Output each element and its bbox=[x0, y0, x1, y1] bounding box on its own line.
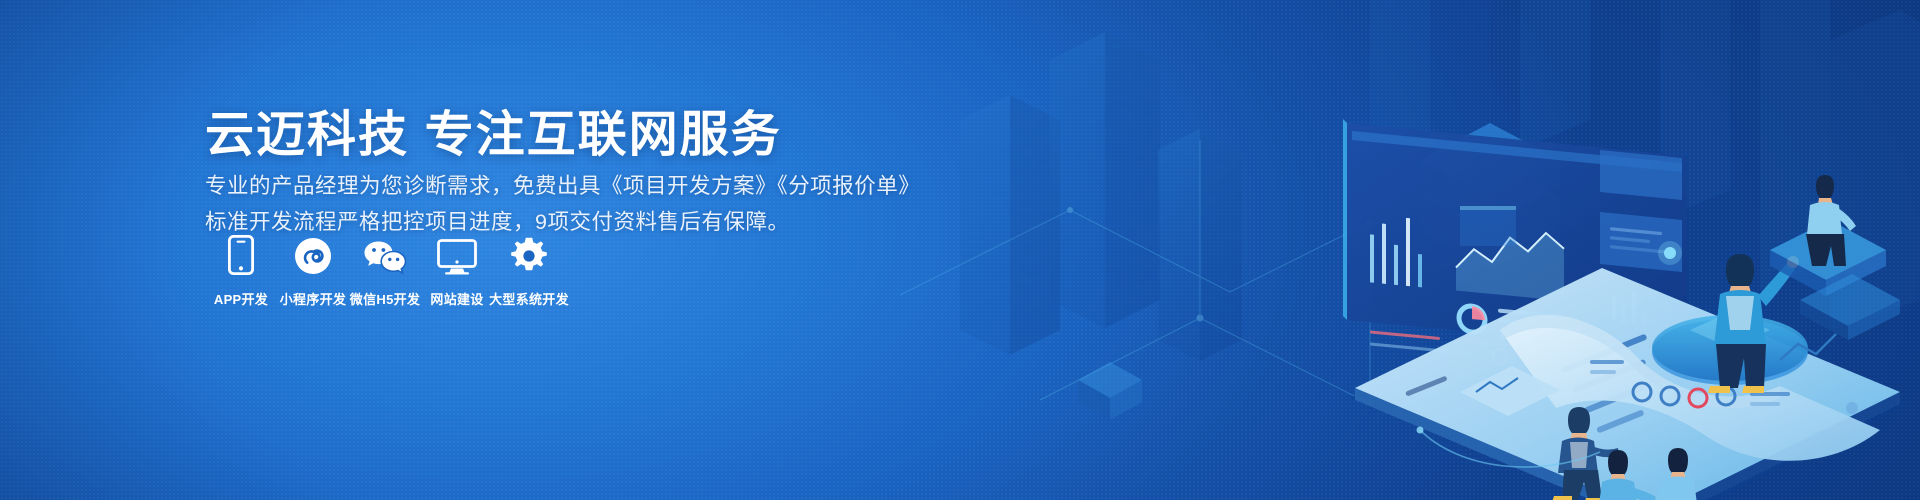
isometric-data-dashboard-illustration bbox=[900, 0, 1920, 500]
service-icon-row: APP开发 小程序开发 bbox=[205, 233, 565, 308]
hero-banner: 云迈科技 专注互联网服务 专业的产品经理为您诊断需求，免费出具《项目开发方案》《… bbox=[0, 0, 1920, 500]
service-item-website[interactable]: 网站建设 bbox=[421, 233, 493, 308]
service-label-app: APP开发 bbox=[214, 289, 268, 308]
page-title: 云迈科技 专注互联网服务 bbox=[205, 109, 782, 163]
service-label-system: 大型系统开发 bbox=[489, 289, 569, 308]
service-item-miniprogram[interactable]: 小程序开发 bbox=[277, 233, 349, 308]
mobile-phone-icon bbox=[228, 233, 254, 275]
wechat-icon bbox=[363, 233, 407, 275]
service-label-miniprogram: 小程序开发 bbox=[280, 289, 347, 308]
service-label-wechat: 微信H5开发 bbox=[350, 289, 420, 308]
hologram-panel bbox=[1460, 206, 1516, 246]
service-item-system[interactable]: 大型系统开发 bbox=[493, 233, 565, 308]
subtitle-line-2: 标准开发流程严格把控项目进度，9项交付资料售后有保障。 bbox=[205, 205, 789, 236]
subtitle-line-1: 专业的产品经理为您诊断需求，免费出具《项目开发方案》《分项报价单》 bbox=[205, 169, 920, 200]
banner-content: 云迈科技 专注互联网服务 专业的产品经理为您诊断需求，免费出具《项目开发方案》《… bbox=[205, 0, 905, 500]
service-item-wechat[interactable]: 微信H5开发 bbox=[349, 233, 421, 308]
service-label-website: 网站建设 bbox=[430, 289, 483, 308]
floating-cube bbox=[1078, 362, 1142, 420]
gear-icon bbox=[510, 233, 548, 275]
mini-program-icon bbox=[294, 233, 332, 275]
monitor-icon bbox=[437, 233, 477, 275]
service-item-app[interactable]: APP开发 bbox=[205, 233, 277, 308]
illustration-container bbox=[900, 0, 1920, 500]
